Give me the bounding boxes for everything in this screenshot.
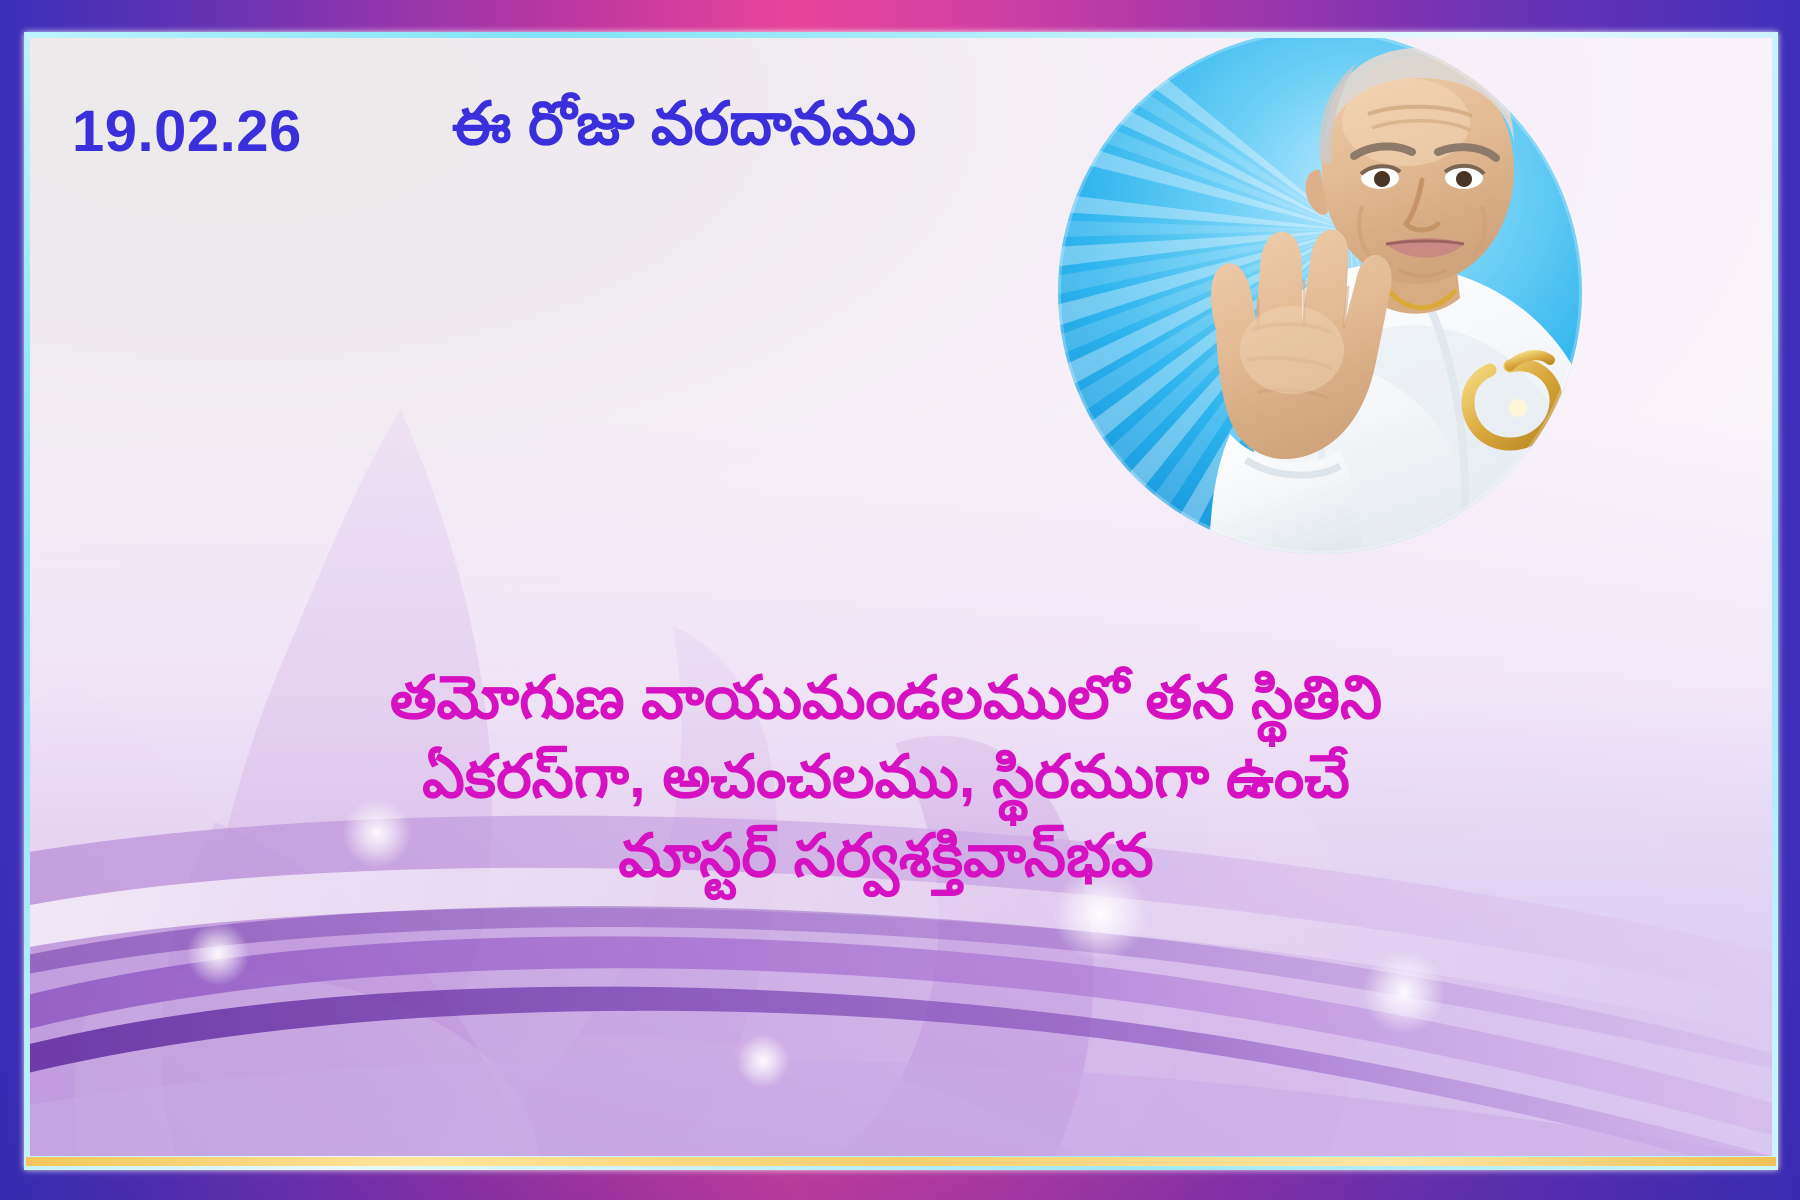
slide-canvas: 19.02.26 ఈ రోజు వరదానము [0,0,1800,1200]
message-block: తమోగుణ వాయుమండలములో తన స్థితిని ఏకరస్‌గా… [120,658,1652,896]
message-line-1: తమోగుణ వాయుమండలములో తన స్థితిని [120,658,1652,737]
gold-accent-line [26,1157,1776,1166]
message-line-3: మాస్టర్ సర్వశక్తివాన్‌భవ [120,816,1652,895]
page-title: ఈ రోజు వరదానము [452,89,916,173]
slide-card: 19.02.26 ఈ రోజు వరదానము [30,38,1772,1156]
avatar [1020,38,1620,570]
message-line-2: ఏకరస్‌గా, అచంచలము, స్థిరముగా ఉంచే [120,737,1652,816]
slide-date: 19.02.26 [72,98,302,165]
